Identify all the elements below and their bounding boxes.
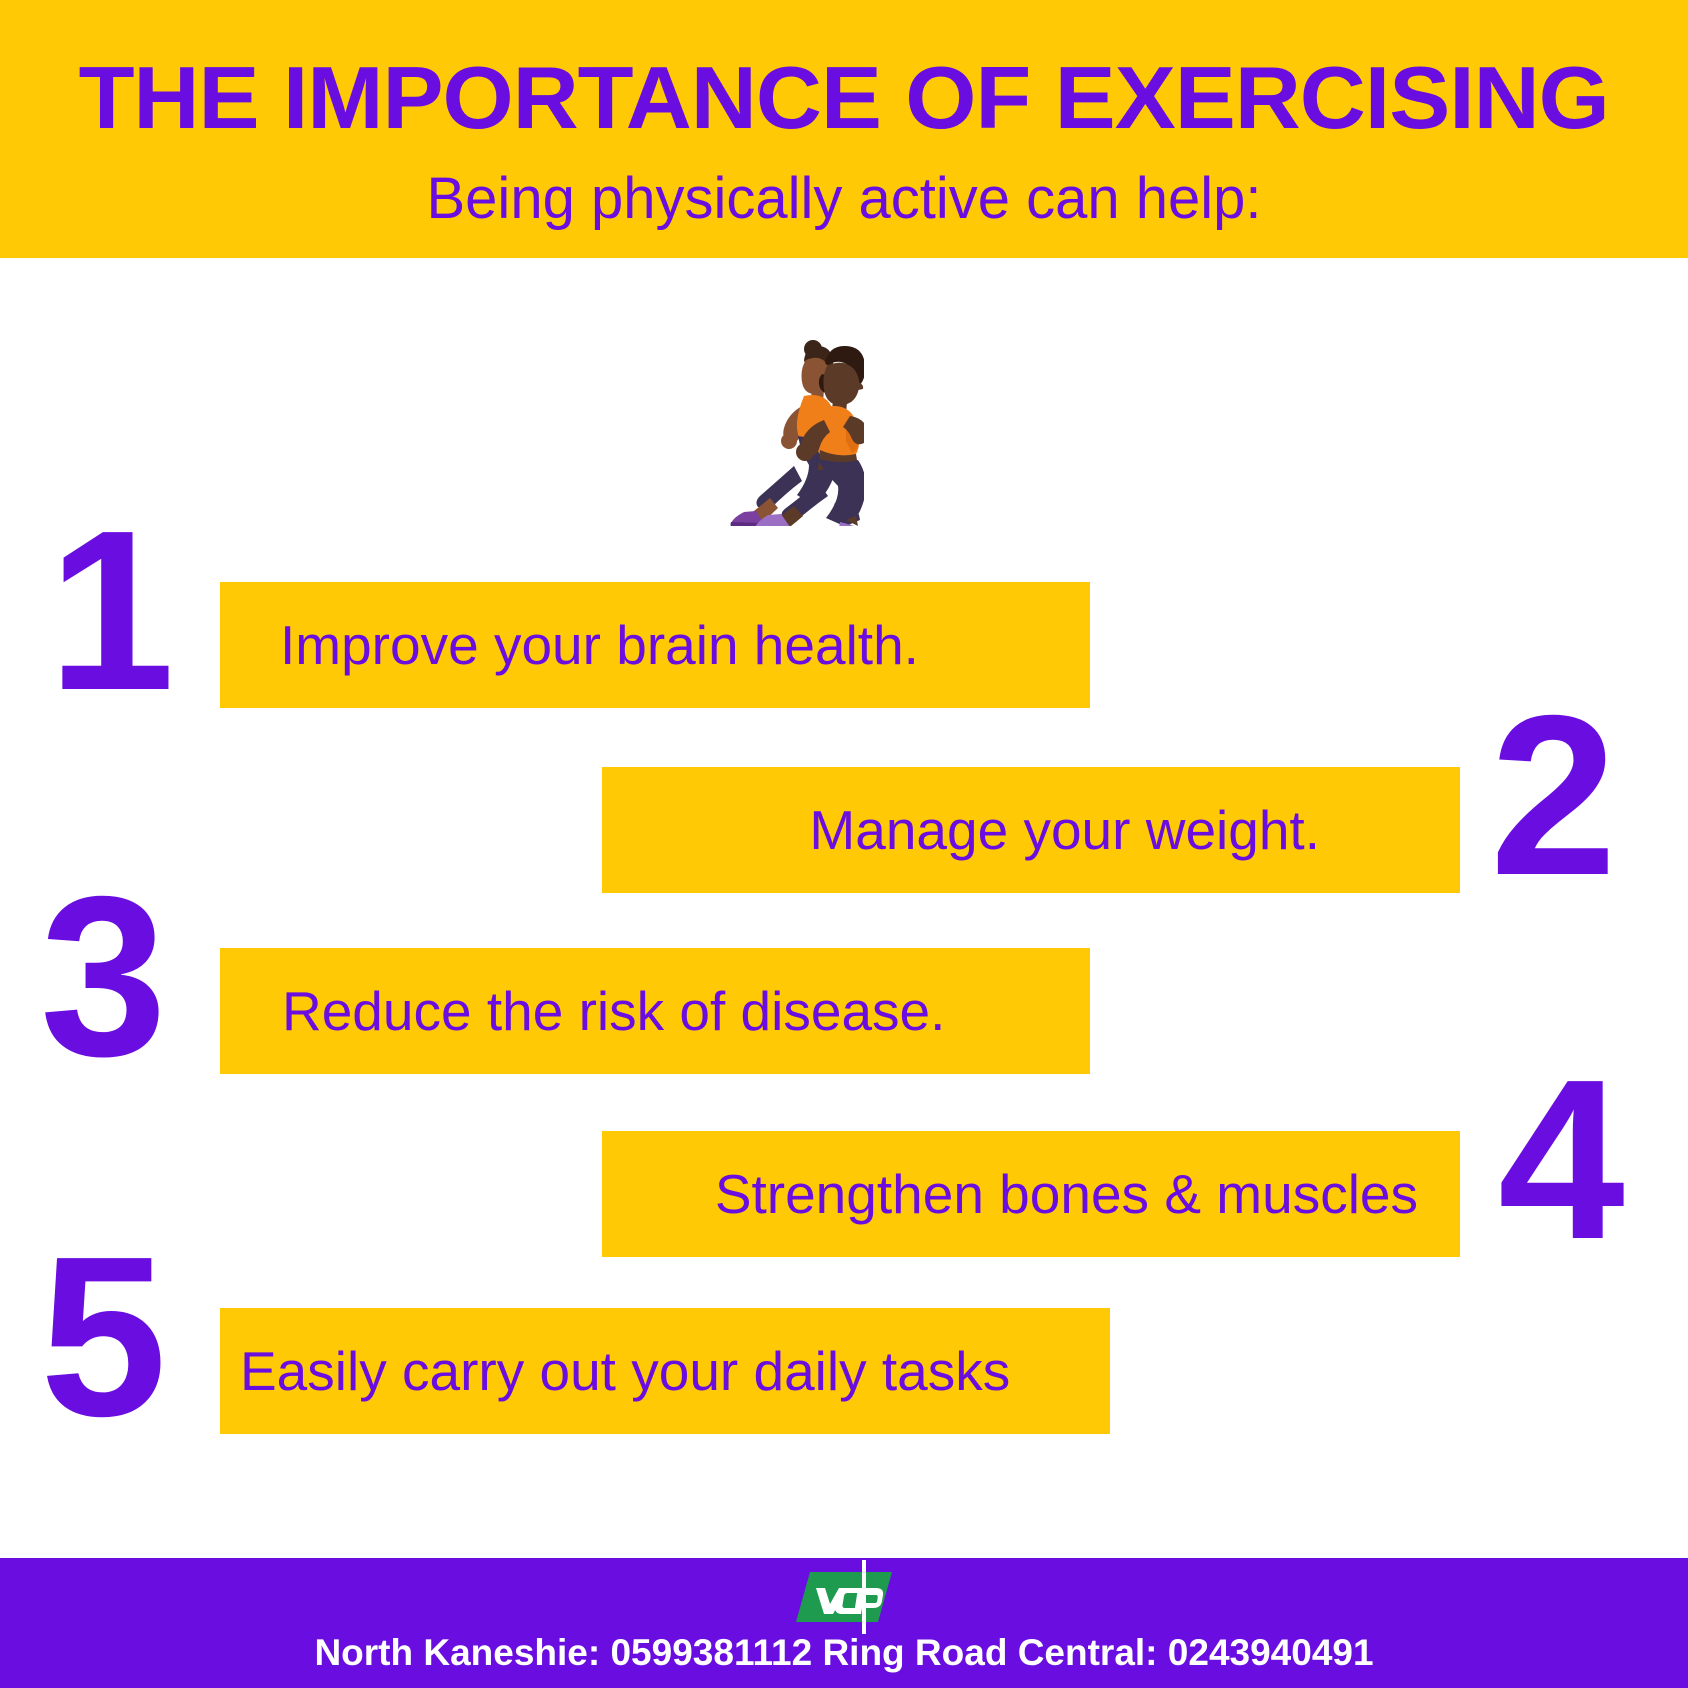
benefit-bar-5: Easily carry out your daily tasks [220, 1308, 1110, 1434]
benefit-text-2: Manage your weight. [809, 803, 1320, 858]
benefit-number-1: 1 [48, 518, 175, 705]
benefit-bar-4: Strengthen bones & muscles [602, 1131, 1460, 1257]
benefit-bar-3: Reduce the risk of disease. [220, 948, 1090, 1074]
benefit-bar-2: Manage your weight. [602, 767, 1460, 893]
benefit-number-5: 5 [40, 1244, 167, 1431]
footer-contact-text: North Kaneshie: 0599381112 Ring Road Cen… [314, 1634, 1373, 1671]
benefit-text-3: Reduce the risk of disease. [282, 984, 945, 1039]
benefit-bar-1: Improve your brain health. [220, 582, 1090, 708]
vcp-logo [796, 1566, 892, 1628]
benefit-text-1: Improve your brain health. [280, 618, 919, 673]
page-title: THE IMPORTANCE OF EXERCISING [79, 54, 1609, 142]
benefit-number-2: 2 [1490, 703, 1617, 890]
page-subtitle: Being physically active can help: [426, 170, 1261, 228]
running-women-icon [694, 316, 864, 526]
poster-canvas: THE IMPORTANCE OF EXERCISING Being physi… [0, 0, 1688, 1688]
footer-banner: North Kaneshie: 0599381112 Ring Road Cen… [0, 1558, 1688, 1688]
benefit-row-2: 2 Manage your weight. [0, 767, 1688, 893]
benefit-row-5: 5 Easily carry out your daily tasks [0, 1308, 1688, 1434]
benefit-row-3: 3 Reduce the risk of disease. [0, 948, 1688, 1074]
benefit-row-4: 4 Strengthen bones & muscles [0, 1131, 1688, 1257]
benefit-number-3: 3 [40, 884, 167, 1071]
runner-illustration [694, 316, 864, 526]
vcp-logo-icon [796, 1566, 892, 1628]
benefit-number-4: 4 [1498, 1067, 1625, 1254]
benefit-text-5: Easily carry out your daily tasks [240, 1344, 1010, 1399]
benefit-text-4: Strengthen bones & muscles [715, 1167, 1418, 1222]
benefit-row-1: 1 Improve your brain health. [0, 582, 1688, 708]
header-banner: THE IMPORTANCE OF EXERCISING Being physi… [0, 0, 1688, 258]
